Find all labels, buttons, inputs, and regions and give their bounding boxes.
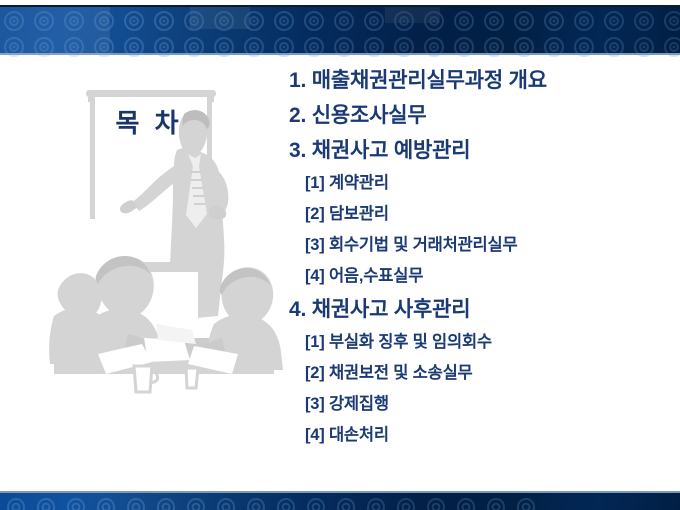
top-decorative-band bbox=[0, 5, 680, 55]
band-shade-overlay bbox=[0, 7, 680, 53]
agenda-subitem[interactable]: [3] 회수기법 및 거래처관리실무 bbox=[305, 230, 669, 261]
agenda-subitem[interactable]: [2] 담보관리 bbox=[305, 199, 669, 230]
agenda-item[interactable]: 1. 매출채권관리실무과정 개요 bbox=[289, 63, 669, 98]
band-circle-pattern-bottom-icon bbox=[0, 493, 680, 510]
bottom-decorative-band bbox=[0, 491, 680, 510]
agenda-list: 1. 매출채권관리실무과정 개요2. 신용조사실무3. 채권사고 예방관리[1]… bbox=[289, 63, 669, 451]
agenda-subitem[interactable]: [4] 대손처리 bbox=[305, 420, 669, 451]
agenda-subitem[interactable]: [1] 부실화 징후 및 임의회수 bbox=[305, 327, 669, 358]
page-title: 목 차 bbox=[86, 103, 212, 140]
agenda-item[interactable]: 4. 채권사고 사후관리 bbox=[289, 292, 669, 327]
band-circle-pattern-icon bbox=[0, 7, 680, 57]
agenda-subitem[interactable]: [3] 강제집행 bbox=[305, 389, 669, 420]
agenda-item[interactable]: 2. 신용조사실무 bbox=[289, 98, 669, 133]
agenda-item[interactable]: 3. 채권사고 예방관리 bbox=[289, 133, 669, 168]
agenda-subitem[interactable]: [1] 계약관리 bbox=[305, 168, 669, 199]
band-shade-overlay-bottom bbox=[0, 493, 680, 510]
slide-canvas: 목 차 1. 매출채권관리실무과정 개요2. 신용조사실무3. 채권사고 예방관… bbox=[0, 0, 680, 510]
agenda-subitem[interactable]: [2] 채권보전 및 소송실무 bbox=[305, 358, 669, 389]
agenda-subitem[interactable]: [4] 어음,수표실무 bbox=[305, 261, 669, 292]
